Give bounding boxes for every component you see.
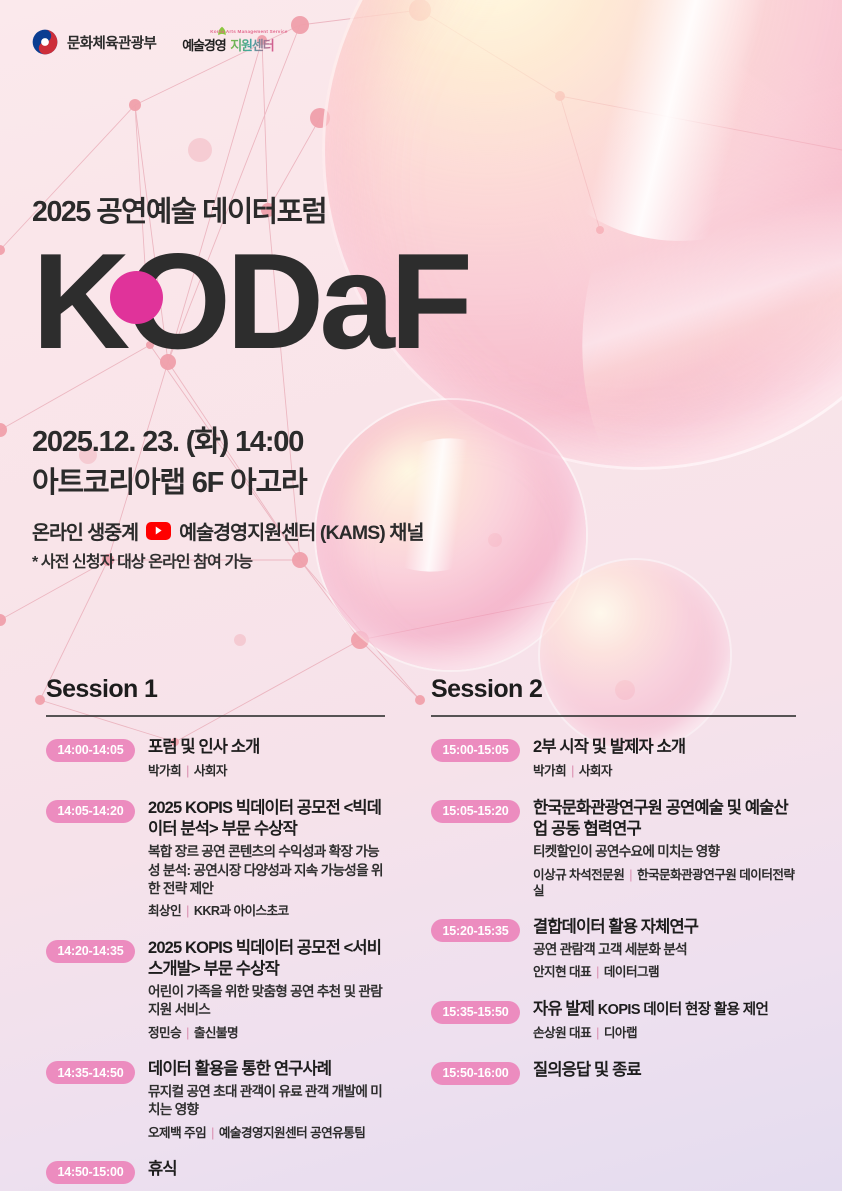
event-date: 2025.12. 23. (화) 14:00 <box>32 422 306 463</box>
speaker-name: 최상인 <box>148 904 181 918</box>
session-item-body: 2025 KOPIS 빅데이터 공모전 <서비스개발> 부문 수상작 어린이 가… <box>148 938 385 1042</box>
time-badge: 15:05-15:20 <box>431 800 520 823</box>
session-2-divider <box>431 715 796 717</box>
time-badge: 15:20-15:35 <box>431 919 520 942</box>
session-item-body: 2부 시작 및 발제자 소개 박가희|사회자 <box>533 737 796 780</box>
session-item-speaker: 손상원 대표|디아랩 <box>533 1025 796 1041</box>
event-venue: 아트코리아랩 6F 아고라 <box>32 463 306 504</box>
session-item-title-light: KOPIS 데이터 현장 활용 제언 <box>598 1002 769 1018</box>
session-1-title: Session 1 <box>46 676 385 704</box>
time-badge: 15:35-15:50 <box>431 1001 520 1024</box>
session-item-title: 2025 KOPIS 빅데이터 공모전 <빅데이터 분석> 부문 수상작 <box>148 798 385 842</box>
event-datetime-block: 2025.12. 23. (화) 14:00 아트코리아랩 6F 아고라 <box>32 422 306 504</box>
kams-logo-english: Korea Arts Management Service <box>210 29 288 34</box>
session-item[interactable]: 15:20-15:35 결합데이터 활용 자체연구 공연 관람객 고객 세분화 … <box>431 917 796 980</box>
speaker-name: 손상원 대표 <box>533 1026 591 1040</box>
session-item-title-strong: 자유 발제 <box>533 1000 594 1018</box>
session-item-body: 2025 KOPIS 빅데이터 공모전 <빅데이터 분석> 부문 수상작 복합 … <box>148 798 385 920</box>
logo-bar: 문화체육관광부 Korea Arts Management Service 예술… <box>32 28 274 56</box>
session-item[interactable]: 14:50-15:00 휴식 <box>46 1159 385 1184</box>
time-badge: 14:00-14:05 <box>46 739 135 762</box>
session-item-body: 데이터 활용을 통한 연구사례 뮤지컬 공연 초대 관객이 유료 관객 개발에 … <box>148 1059 385 1141</box>
session-item-speaker: 안지현 대표|데이터그램 <box>533 964 796 980</box>
session-item-subtitle: 어린이 가족을 위한 맞춤형 공연 추천 및 관람 지원 서비스 <box>148 983 385 1020</box>
speaker-name: 정민승 <box>148 1026 181 1040</box>
session-item-body: 휴식 <box>148 1159 385 1184</box>
session-item[interactable]: 15:35-15:50 자유 발제 KOPIS 데이터 현장 활용 제언 손상원… <box>431 999 796 1042</box>
session-item[interactable]: 14:20-14:35 2025 KOPIS 빅데이터 공모전 <서비스개발> … <box>46 938 385 1042</box>
speaker-name: 안지현 대표 <box>533 965 591 979</box>
speaker-affiliation: 데이터그램 <box>604 965 659 979</box>
sessions-area: Session 1 14:00-14:05 포럼 및 인사 소개 박가희|사회자 <box>0 676 842 1184</box>
speaker-name: 이상규 차석전문원 <box>533 868 624 882</box>
speaker-affiliation: 디아랩 <box>604 1026 637 1040</box>
session-item-subtitle: 공연 관람객 고객 세분화 분석 <box>533 941 796 959</box>
session-2-items: 15:00-15:05 2부 시작 및 발제자 소개 박가희|사회자 15:05… <box>431 737 796 1085</box>
session-item[interactable]: 15:50-16:00 질의응답 및 종료 <box>431 1060 796 1085</box>
time-badge: 15:50-16:00 <box>431 1062 520 1085</box>
ministry-logo: 문화체육관광부 <box>32 29 156 55</box>
speaker-affiliation: KKR과 아이스초코 <box>194 904 289 918</box>
session-item-title: 한국문화관광연구원 공연예술 및 예술산업 공동 협력연구 <box>533 798 796 842</box>
time-badge: 14:35-14:50 <box>46 1061 135 1084</box>
speaker-separator: | <box>186 904 189 918</box>
session-item-speaker: 정민승|출신불명 <box>148 1025 385 1041</box>
time-badge: 14:50-15:00 <box>46 1161 135 1184</box>
speaker-separator: | <box>571 764 574 778</box>
kodaf-wordmark: KODaF <box>32 239 632 367</box>
poster-canvas: 문화체육관광부 Korea Arts Management Service 예술… <box>0 0 842 1191</box>
session-1-divider <box>46 715 385 717</box>
livestream-line: 온라인 생중계 예술경영지원센터 (KAMS) 채널 <box>32 516 424 545</box>
speaker-name: 박가희 <box>148 764 181 778</box>
session-item-speaker: 이상규 차석전문원|한국문화관광연구원 데이터전략실 <box>533 867 796 900</box>
time-badge: 14:05-14:20 <box>46 800 135 823</box>
session-item[interactable]: 15:00-15:05 2부 시작 및 발제자 소개 박가희|사회자 <box>431 737 796 780</box>
session-item-title: 질의응답 및 종료 <box>533 1060 796 1082</box>
taegeuk-icon <box>32 29 58 55</box>
kams-logo-korean-accent: 지원센터 <box>230 35 273 54</box>
session-item-title: 데이터 활용을 통한 연구사례 <box>148 1059 385 1081</box>
session-item-title: 자유 발제 KOPIS 데이터 현장 활용 제언 <box>533 999 796 1021</box>
speaker-separator: | <box>186 1026 189 1040</box>
speaker-affiliation: 사회자 <box>579 764 612 778</box>
youtube-icon[interactable] <box>146 522 171 540</box>
session-item-title: 2부 시작 및 발제자 소개 <box>533 737 796 759</box>
session-item[interactable]: 14:35-14:50 데이터 활용을 통한 연구사례 뮤지컬 공연 초대 관객… <box>46 1059 385 1141</box>
session-item-body: 포럼 및 인사 소개 박가희|사회자 <box>148 737 385 780</box>
speaker-name: 오제백 주임 <box>148 1126 206 1140</box>
participation-note: * 사전 신청자 대상 온라인 참여 가능 <box>32 548 252 572</box>
session-item-body: 질의응답 및 종료 <box>533 1060 796 1085</box>
kodaf-accent-dot <box>110 271 163 324</box>
session-item-speaker: 최상인|KKR과 아이스초코 <box>148 903 385 919</box>
speaker-affiliation: 사회자 <box>194 764 227 778</box>
kams-logo: Korea Arts Management Service 예술경영 지원센터 <box>182 28 274 56</box>
time-badge: 14:20-14:35 <box>46 940 135 963</box>
session-item-subtitle: 복합 장르 공연 콘텐츠의 수익성과 확장 가능성 분석: 공연시장 다양성과 … <box>148 843 385 898</box>
session-item-body: 한국문화관광연구원 공연예술 및 예술산업 공동 협력연구 티켓할인이 공연수요… <box>533 798 796 900</box>
speaker-affiliation: 예술경영지원센터 공연유통팀 <box>219 1126 365 1140</box>
session-item-subtitle: 티켓할인이 공연수요에 미치는 영향 <box>533 843 796 861</box>
session-item-title: 결합데이터 활용 자체연구 <box>533 917 796 939</box>
session-item-title: 2025 KOPIS 빅데이터 공모전 <서비스개발> 부문 수상작 <box>148 938 385 982</box>
session-item-body: 결합데이터 활용 자체연구 공연 관람객 고객 세분화 분석 안지현 대표|데이… <box>533 917 796 980</box>
session-item-speaker: 박가희|사회자 <box>148 763 385 779</box>
play-triangle-icon <box>153 525 164 536</box>
kams-logo-korean-primary: 예술경영 <box>182 35 225 54</box>
livestream-label: 온라인 생중계 <box>32 516 138 545</box>
session-item-speaker: 박가희|사회자 <box>533 763 796 779</box>
speaker-affiliation: 출신불명 <box>194 1026 238 1040</box>
speaker-separator: | <box>596 1026 599 1040</box>
session-item[interactable]: 15:05-15:20 한국문화관광연구원 공연예술 및 예술산업 공동 협력연… <box>431 798 796 900</box>
speaker-separator: | <box>211 1126 214 1140</box>
speaker-separator: | <box>596 965 599 979</box>
network-graph-background <box>0 0 842 760</box>
bubble-medium-highlight <box>344 418 536 591</box>
session-item-speaker: 오제백 주임|예술경영지원센터 공연유통팀 <box>148 1125 385 1141</box>
time-badge: 15:00-15:05 <box>431 739 520 762</box>
session-2-title: Session 2 <box>431 676 796 704</box>
forum-eyebrow-title: 2025 공연예술 데이터포럼 <box>32 198 632 227</box>
kodaf-wordmark-text: KODaF <box>32 233 468 369</box>
speaker-separator: | <box>629 868 632 882</box>
session-column-2: Session 2 15:00-15:05 2부 시작 및 발제자 소개 박가희… <box>421 676 842 1184</box>
session-item-subtitle: 뮤지컬 공연 초대 관객이 유료 관객 개발에 미치는 영향 <box>148 1083 385 1120</box>
session-column-1: Session 1 14:00-14:05 포럼 및 인사 소개 박가희|사회자 <box>0 676 421 1184</box>
session-item[interactable]: 14:00-14:05 포럼 및 인사 소개 박가희|사회자 <box>46 737 385 780</box>
livestream-channel: 예술경영지원센터 (KAMS) 채널 <box>179 516 423 545</box>
session-item-body: 자유 발제 KOPIS 데이터 현장 활용 제언 손상원 대표|디아랩 <box>533 999 796 1042</box>
session-item[interactable]: 14:05-14:20 2025 KOPIS 빅데이터 공모전 <빅데이터 분석… <box>46 798 385 920</box>
headline-block: 2025 공연예술 데이터포럼 KODaF <box>32 198 632 367</box>
session-item-title: 휴식 <box>148 1159 385 1181</box>
session-1-items: 14:00-14:05 포럼 및 인사 소개 박가희|사회자 14:05-14:… <box>46 737 385 1184</box>
speaker-separator: | <box>186 764 189 778</box>
ministry-logo-label: 문화체육관광부 <box>67 32 156 53</box>
session-item-title: 포럼 및 인사 소개 <box>148 737 385 759</box>
speaker-name: 박가희 <box>533 764 566 778</box>
